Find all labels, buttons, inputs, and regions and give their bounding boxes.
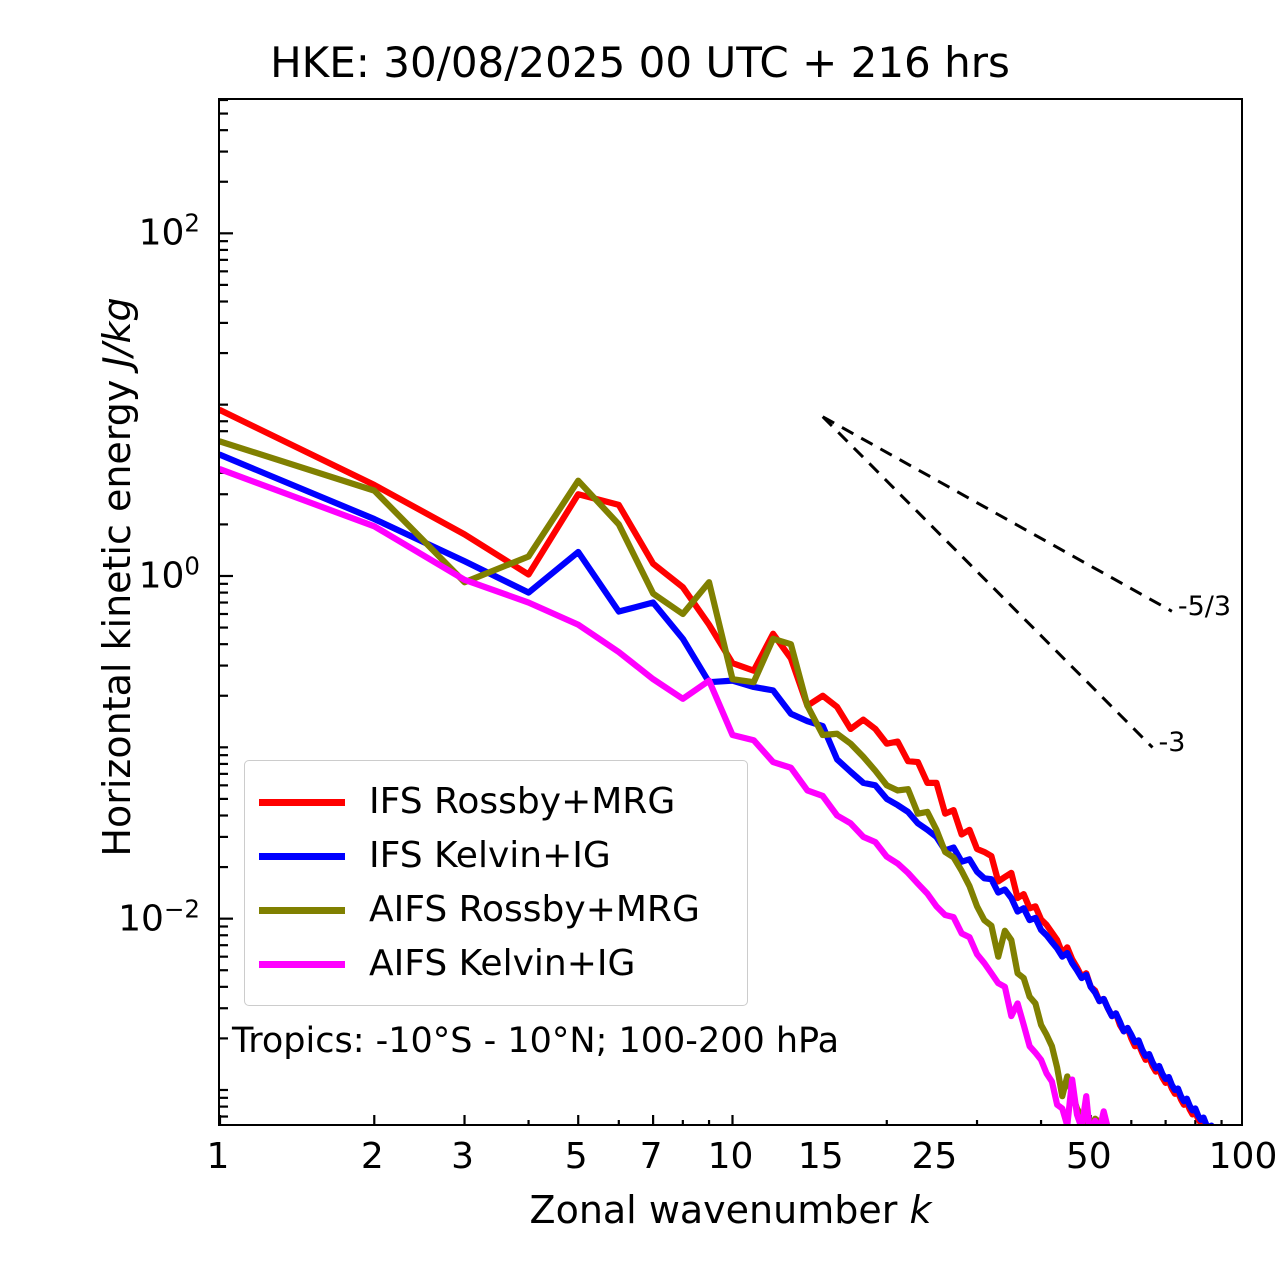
y-tick-exponent: −2 (164, 894, 200, 923)
x-tick-label: 10 (708, 1136, 754, 1177)
legend-color-swatch (259, 961, 345, 968)
x-axis-label-text: Zonal wavenumber (530, 1188, 910, 1232)
legend-item-label: AIFS Rossby+MRG (369, 890, 700, 930)
slope-label-three: -3 (1159, 727, 1186, 758)
y-axis-label-text: Horizontal kinetic energy (95, 368, 139, 857)
x-tick-label: 5 (565, 1136, 588, 1177)
x-tick-label: 2 (361, 1136, 384, 1177)
reference-slope-lines (823, 417, 1172, 748)
figure-root: HKE: 30/08/2025 00 UTC + 216 hrs Horizon… (0, 0, 1280, 1288)
legend-item[interactable]: AIFS Rossby+MRG (259, 883, 731, 937)
y-tick-mantissa: 10 (139, 213, 185, 254)
x-tick-label: 50 (1066, 1136, 1112, 1177)
x-tick-label: 1 (207, 1136, 230, 1177)
y-tick-label: 100 (60, 551, 200, 596)
legend-item-label: IFS Rossby+MRG (369, 782, 675, 822)
legend-item[interactable]: AIFS Kelvin+IG (259, 937, 731, 991)
y-tick-exponent: 2 (184, 209, 200, 238)
x-tick-label: 25 (912, 1136, 958, 1177)
y-tick-label: 10−2 (60, 894, 200, 939)
legend-color-swatch (259, 799, 345, 806)
x-axis-label-symbol: k (909, 1188, 931, 1232)
legend-item[interactable]: IFS Rossby+MRG (259, 775, 731, 829)
legend-item[interactable]: IFS Kelvin+IG (259, 829, 731, 883)
x-tick-label: 7 (640, 1136, 663, 1177)
y-tick-mantissa: 10 (118, 898, 164, 939)
legend-color-swatch (259, 907, 345, 914)
slope-reference-line (823, 417, 1172, 612)
region-annotation: Tropics: -10°S - 10°N; 100-200 hPa (232, 1021, 839, 1061)
legend: IFS Rossby+MRGIFS Kelvin+IGAIFS Rossby+M… (244, 760, 748, 1006)
y-tick-exponent: 0 (184, 551, 200, 580)
legend-item-label: AIFS Kelvin+IG (369, 944, 635, 984)
y-axis-label-unit: J/kg (95, 297, 139, 367)
legend-color-swatch (259, 853, 345, 860)
slope-reference-line (823, 417, 1153, 748)
x-tick-label: 3 (451, 1136, 474, 1177)
legend-item-label: IFS Kelvin+IG (369, 836, 611, 876)
y-tick-mantissa: 10 (139, 555, 185, 596)
x-tick-label: 15 (798, 1136, 844, 1177)
x-tick-label: 100 (1209, 1136, 1278, 1177)
y-tick-label: 102 (60, 209, 200, 254)
slope-label-five-thirds: -5/3 (1178, 591, 1231, 622)
page-title: HKE: 30/08/2025 00 UTC + 216 hrs (0, 38, 1280, 88)
x-axis-label: Zonal wavenumber k (218, 1188, 1243, 1232)
